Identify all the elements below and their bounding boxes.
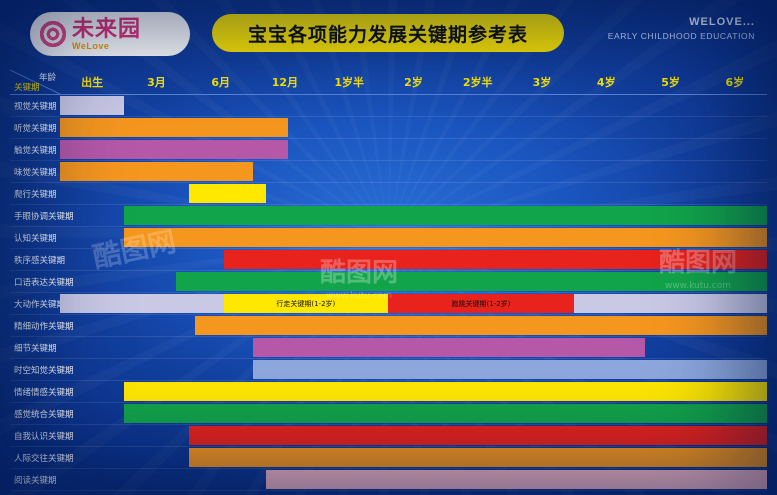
row-label: 口语表达关键期	[10, 271, 60, 293]
brand-line1: WELOVE...	[608, 16, 755, 28]
bar-track	[60, 117, 767, 139]
table-row: 时空知觉关键期	[10, 359, 767, 381]
corner-key-label: 关键期	[14, 81, 40, 93]
bar-segment	[60, 162, 253, 181]
row-label: 自我认识关键期	[10, 425, 60, 447]
row-label: 视觉关键期	[10, 95, 60, 117]
bar-segment	[189, 448, 767, 467]
bar-segment	[253, 360, 767, 379]
row-label: 味觉关键期	[10, 161, 60, 183]
col-header-2: 6月	[189, 70, 253, 95]
bar-segment: 跑跳关键期(1-2岁)	[388, 294, 574, 313]
table-row: 认知关键期	[10, 227, 767, 249]
row-label: 触觉关键期	[10, 139, 60, 161]
table-row: 味觉关键期	[10, 161, 767, 183]
row-label: 人际交往关键期	[10, 447, 60, 469]
table-row: 细节关键期	[10, 337, 767, 359]
table-row: 精细动作关键期	[10, 315, 767, 337]
bar-segment	[124, 382, 767, 401]
brand-block: WELOVE... EARLY CHILDHOOD EDUCATION	[608, 16, 755, 41]
chart-table-wrap: 年龄 关键期 出生 3月 6月 12月 1岁半 2岁 2岁半 3岁 4岁 5岁 …	[10, 70, 767, 485]
bar-segment	[124, 228, 767, 247]
col-header-8: 4岁	[574, 70, 638, 95]
bar-annotation: 跑跳关键期(1-2岁)	[452, 299, 511, 309]
table-row: 手眼协调关键期	[10, 205, 767, 227]
row-label: 精细动作关键期	[10, 315, 60, 337]
bar-track: 行走关键期(1-2岁)跑跳关键期(1-2岁)	[60, 293, 767, 315]
bar-track	[60, 469, 767, 491]
row-label: 听觉关键期	[10, 117, 60, 139]
bar-segment	[60, 140, 288, 159]
bar-segment	[253, 338, 645, 357]
bar-track	[60, 161, 767, 183]
table-row: 触觉关键期	[10, 139, 767, 161]
logo: 未来园 WeLove	[30, 12, 190, 56]
bar-track	[60, 227, 767, 249]
row-label: 细节关键期	[10, 337, 60, 359]
bar-segment	[124, 206, 767, 225]
corner-age-label: 年龄	[39, 71, 56, 83]
bar-segment	[60, 96, 124, 115]
title-banner: 宝宝各项能力发展关键期参考表	[212, 14, 564, 52]
row-label: 秩序感关键期	[10, 249, 60, 271]
table-header-row: 年龄 关键期 出生 3月 6月 12月 1岁半 2岁 2岁半 3岁 4岁 5岁 …	[10, 70, 767, 95]
col-header-1: 3月	[124, 70, 188, 95]
header: 未来园 WeLove 宝宝各项能力发展关键期参考表 WELOVE... EARL…	[0, 0, 777, 64]
col-header-7: 3岁	[510, 70, 574, 95]
bar-track	[60, 183, 767, 205]
bar-track	[60, 381, 767, 403]
bar-segment	[224, 250, 767, 269]
swirl-icon	[38, 19, 68, 49]
bar-segment: 行走关键期(1-2岁)	[224, 294, 388, 313]
logo-cn-text: 未来园	[72, 18, 141, 40]
col-header-5: 2岁	[381, 70, 445, 95]
bar-track	[60, 249, 767, 271]
bar-track	[60, 271, 767, 293]
bar-segment	[195, 316, 767, 335]
row-label: 爬行关键期	[10, 183, 60, 205]
table-row: 大动作关键期行走关键期(1-2岁)跑跳关键期(1-2岁)	[10, 293, 767, 315]
col-header-0: 出生	[60, 70, 124, 95]
row-label: 阅读关键期	[10, 469, 60, 491]
bar-segment	[189, 426, 767, 445]
logo-en-text: WeLove	[72, 42, 141, 51]
bar-segment	[266, 470, 767, 489]
brand-line2: EARLY CHILDHOOD EDUCATION	[608, 31, 755, 41]
table-row: 情绪情感关键期	[10, 381, 767, 403]
bar-track	[60, 139, 767, 161]
table-row: 视觉关键期	[10, 95, 767, 117]
bar-track	[60, 205, 767, 227]
table-row: 阅读关键期	[10, 469, 767, 491]
bar-segment	[176, 272, 767, 291]
col-header-9: 5岁	[638, 70, 702, 95]
row-label: 感觉统合关键期	[10, 403, 60, 425]
page-title: 宝宝各项能力发展关键期参考表	[248, 20, 528, 47]
bar-track	[60, 95, 767, 117]
row-label: 大动作关键期	[10, 293, 60, 315]
bar-track	[60, 403, 767, 425]
col-header-6: 2岁半	[446, 70, 510, 95]
col-header-3: 12月	[253, 70, 317, 95]
table-row: 爬行关键期	[10, 183, 767, 205]
bar-track	[60, 337, 767, 359]
table-row: 自我认识关键期	[10, 425, 767, 447]
bar-track	[60, 359, 767, 381]
row-label: 情绪情感关键期	[10, 381, 60, 403]
col-header-4: 1岁半	[317, 70, 381, 95]
bar-segment	[124, 404, 767, 423]
bar-segment	[189, 184, 266, 203]
table-row: 听觉关键期	[10, 117, 767, 139]
col-header-10: 6岁	[703, 70, 767, 95]
bar-track	[60, 447, 767, 469]
row-label: 认知关键期	[10, 227, 60, 249]
table-row: 口语表达关键期	[10, 271, 767, 293]
bar-segment	[60, 118, 288, 137]
row-label: 时空知觉关键期	[10, 359, 60, 381]
bar-track	[60, 425, 767, 447]
table-body: 视觉关键期听觉关键期触觉关键期味觉关键期爬行关键期手眼协调关键期认知关键期秩序感…	[10, 95, 767, 491]
corner-header: 年龄 关键期	[10, 70, 60, 95]
poster-root: 未来园 WeLove 宝宝各项能力发展关键期参考表 WELOVE... EARL…	[0, 0, 777, 495]
table-row: 感觉统合关键期	[10, 403, 767, 425]
table-row: 秩序感关键期	[10, 249, 767, 271]
table-row: 人际交往关键期	[10, 447, 767, 469]
row-label: 手眼协调关键期	[10, 205, 60, 227]
key-period-table: 年龄 关键期 出生 3月 6月 12月 1岁半 2岁 2岁半 3岁 4岁 5岁 …	[10, 70, 767, 491]
bar-track	[60, 315, 767, 337]
bar-annotation: 行走关键期(1-2岁)	[276, 299, 335, 309]
